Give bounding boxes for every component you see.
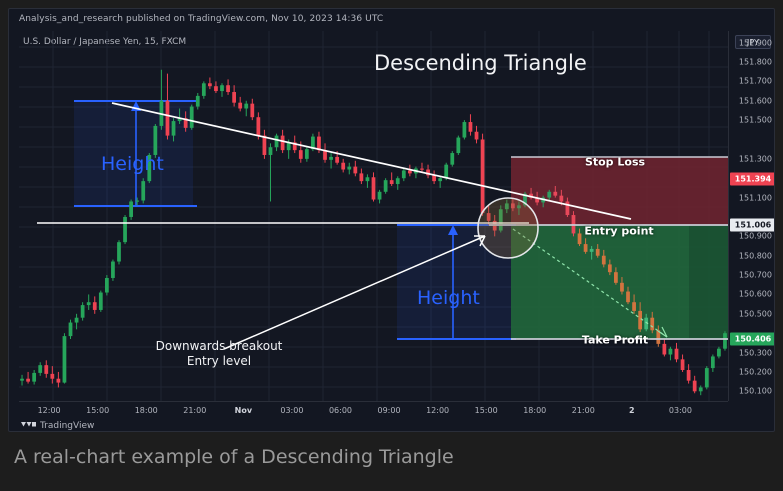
candle-body: [438, 178, 442, 181]
candle-body: [38, 365, 42, 373]
price-tick: 151.100: [739, 193, 772, 202]
candle-body: [590, 249, 594, 252]
candle-body: [63, 336, 67, 382]
candle-body: [481, 139, 485, 213]
candle-body: [335, 157, 339, 163]
time-tick: 21:00: [572, 406, 595, 415]
candle-body: [408, 170, 412, 173]
candle-body: [669, 349, 673, 355]
candle-body: [256, 117, 260, 135]
breakout-highlight-circle: [478, 198, 538, 258]
candle-body: [372, 177, 376, 199]
candle-body: [129, 201, 133, 216]
price-tick: 151.300: [739, 154, 772, 163]
candle-body: [578, 233, 582, 244]
stop-loss-label: Stop Loss: [585, 156, 645, 169]
candle-body: [456, 138, 460, 153]
height-label-upper: Height: [101, 153, 164, 175]
candle-body: [444, 165, 448, 179]
page-title: Descending Triangle: [374, 51, 587, 75]
candle-body: [608, 264, 612, 272]
candle-body: [69, 323, 73, 337]
candle-body: [620, 283, 624, 292]
candle-body: [547, 192, 551, 198]
time-tick: 03:00: [669, 406, 692, 415]
candle-body: [299, 150, 303, 159]
breakout-line-1: Downwards breakout: [119, 339, 319, 354]
candle-body: [420, 169, 424, 170]
candle-body: [305, 149, 309, 159]
candle-body: [723, 333, 727, 348]
time-tick: 03:00: [280, 406, 303, 415]
time-tick: 2: [629, 406, 635, 415]
candle-body: [632, 302, 636, 311]
candle-body: [275, 136, 279, 148]
entry-price-badge: 151.006: [730, 219, 775, 232]
candle-body: [20, 379, 24, 381]
price-tick: 151.500: [739, 116, 772, 125]
price-tick: 150.500: [739, 309, 772, 318]
candle-body: [208, 83, 212, 86]
entry-point-label: Entry point: [584, 225, 653, 238]
candle-body: [238, 103, 242, 109]
time-tick: 15:00: [86, 406, 109, 415]
candle-body: [450, 153, 454, 165]
candle-body: [559, 196, 563, 202]
price-tick: 150.800: [739, 251, 772, 260]
price-tick: 150.100: [739, 387, 772, 396]
candle-body: [705, 368, 709, 387]
candle-body: [662, 344, 666, 355]
candle-body: [226, 85, 230, 92]
candle-body: [341, 163, 345, 170]
candle-body: [553, 192, 557, 196]
candle-body: [378, 192, 382, 200]
candle-body: [57, 379, 61, 383]
candle-body: [244, 104, 248, 109]
last-price-badge: 151.394: [730, 173, 775, 186]
candle-body: [117, 242, 121, 261]
candle-body: [123, 217, 127, 242]
tradingview-chart-card: Analysis_and_research published on Tradi…: [8, 8, 775, 432]
candle-body: [26, 379, 30, 382]
candle-body: [50, 374, 54, 379]
candle-body: [584, 244, 588, 252]
candle-body: [390, 180, 394, 184]
candle-body: [711, 356, 715, 368]
tradingview-logo-icon: [21, 422, 36, 431]
candle-body: [32, 373, 36, 382]
candle-body: [281, 136, 285, 151]
candle-body: [269, 147, 273, 155]
candle-body: [638, 311, 642, 329]
candle-body: [717, 349, 721, 357]
time-tick: 18:00: [523, 406, 546, 415]
time-axis[interactable]: 12:0015:0018:0021:00Nov03:0006:0009:0012…: [19, 401, 728, 419]
candle-body: [329, 157, 333, 160]
candle-body: [432, 175, 436, 181]
candle-body: [196, 96, 200, 107]
candle-body: [475, 132, 479, 140]
candle-body: [402, 170, 406, 178]
candle-body: [153, 126, 157, 155]
time-tick: Nov: [235, 406, 252, 415]
candle-body: [681, 359, 685, 370]
candle-body: [353, 167, 357, 174]
candle-body: [166, 101, 170, 136]
candle-body: [44, 365, 48, 374]
candle-body: [650, 318, 654, 331]
price-axis[interactable]: JPY 151.900151.800151.700151.600151.5001…: [728, 31, 775, 401]
breakout-line-2: Entry level: [119, 354, 319, 369]
time-tick: 21:00: [183, 406, 206, 415]
price-tick: 150.900: [739, 232, 772, 241]
candle-body: [232, 92, 236, 103]
candle-body: [99, 293, 103, 310]
take-profit-label: Take Profit: [582, 334, 648, 347]
price-tick: 150.200: [739, 367, 772, 376]
time-tick: 09:00: [378, 406, 401, 415]
price-tick: 151.800: [739, 57, 772, 66]
price-tick: 151.700: [739, 77, 772, 86]
candle-body: [596, 249, 600, 256]
candle-body: [172, 121, 176, 136]
price-tick: 150.300: [739, 348, 772, 357]
price-tick: 151.900: [739, 38, 772, 47]
time-tick: 15:00: [475, 406, 498, 415]
candle-body: [93, 302, 97, 310]
candle-body: [263, 136, 267, 155]
candle-body: [75, 318, 79, 323]
candle-body: [190, 107, 194, 128]
candle-body: [81, 305, 85, 318]
candle-body: [566, 201, 570, 215]
figure-caption: A real-chart example of a Descending Tri…: [14, 446, 454, 468]
candle-body: [693, 381, 697, 392]
candle-body: [626, 292, 630, 303]
candle-body: [141, 181, 145, 200]
time-tick: 12:00: [38, 406, 61, 415]
candle-body: [360, 173, 364, 181]
time-tick: 06:00: [329, 406, 352, 415]
candle-body: [687, 370, 691, 381]
time-tick: 18:00: [135, 406, 158, 415]
take-profit-zone: [511, 225, 728, 339]
price-tick: 151.600: [739, 96, 772, 105]
candle-body: [384, 180, 388, 192]
candle-body: [347, 167, 351, 170]
tradingview-logo[interactable]: TradingView: [21, 421, 94, 431]
candle-body: [699, 387, 703, 391]
breakout-annotation: Downwards breakout Entry level: [119, 339, 319, 369]
candle-body: [396, 178, 400, 184]
candle-body: [202, 83, 206, 96]
candle-body: [602, 256, 606, 265]
chart-plot-area[interactable]: Descending Triangle Height Height Stop L…: [19, 31, 728, 401]
time-tick: 12:00: [426, 406, 449, 415]
tradingview-logo-text: TradingView: [40, 421, 94, 431]
candle-body: [250, 104, 254, 118]
candle-body: [105, 278, 109, 293]
candle-body: [111, 262, 115, 278]
height-label-lower: Height: [417, 287, 480, 309]
candle-body: [614, 272, 618, 283]
candle-body: [675, 349, 679, 360]
candle-body: [214, 86, 218, 91]
candle-body: [220, 85, 224, 91]
screenshot-root: Analysis_and_research published on Tradi…: [0, 0, 783, 491]
chart-attribution: Analysis_and_research published on Tradi…: [19, 14, 383, 24]
price-tick: 150.700: [739, 271, 772, 280]
price-tick: 150.600: [739, 290, 772, 299]
candle-body: [135, 201, 139, 202]
candle-body: [366, 177, 370, 181]
candle-body: [469, 122, 473, 132]
candle-body: [87, 302, 91, 305]
target-price-badge: 150.406: [730, 333, 775, 346]
candle-body: [463, 122, 467, 137]
